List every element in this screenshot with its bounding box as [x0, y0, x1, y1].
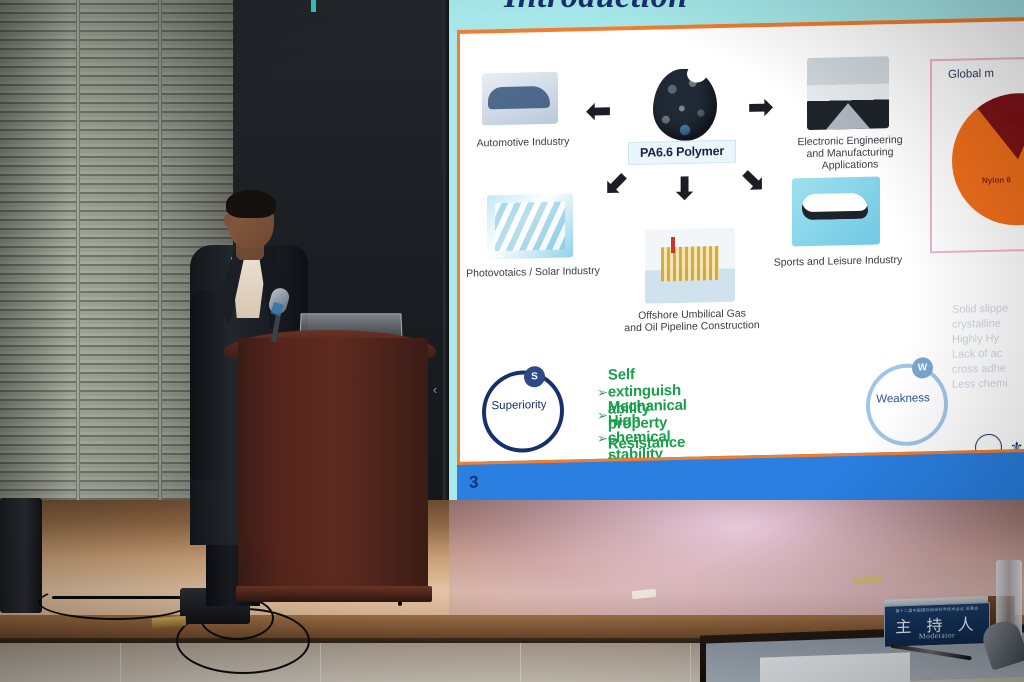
weakness-bullets-faded: Solid slippe crystalline Highly Hy Lack … — [952, 300, 1024, 392]
bullet-arrow-icon: ➢ — [597, 430, 608, 446]
bullet-arrow-icon: ➢ — [597, 407, 608, 423]
center-node-chip: PA6.6 Polymer — [628, 140, 736, 165]
teal-light-sliver — [311, 0, 316, 12]
slide-number: 3 — [469, 473, 478, 493]
arrow-left-icon: ⬅ — [586, 97, 611, 128]
speaker-ear — [224, 214, 232, 227]
floor-tile-line — [320, 643, 321, 682]
pie-chart — [952, 92, 1024, 227]
presentation-scene: ‹ Introduction PA6.6 Polymer ⬅ ➡ ⬇ ⬇ ⬇ — [0, 0, 1024, 682]
pie-chart-title: Global m — [948, 68, 994, 81]
floor-tile-line — [690, 643, 691, 682]
notepad[interactable] — [760, 652, 910, 682]
oil-rig-thumb — [645, 228, 735, 304]
superiority-label: Superiority — [482, 399, 556, 413]
node-label-automotive: Automotive Industry — [468, 135, 578, 149]
cable-loop — [38, 584, 192, 620]
pie-slice-label-other: Other — [1006, 115, 1024, 124]
bullet-arrow-icon: ➢ — [597, 384, 608, 400]
polymer-granules-image — [653, 68, 717, 141]
arrow-down-right-icon: ⬇ — [735, 163, 774, 202]
weakness-bullet: Lack of ac — [952, 345, 1024, 362]
moderator-nameplate: 第十二届中国国际纳米科学技术会议 组委会 主 持 人 Moderator — [884, 602, 990, 648]
pie-slice-label-nylon6: Nylon 6 — [982, 175, 1011, 185]
floor-tile-line — [120, 643, 121, 682]
node-label-solar: Photovotaics / Solar Industry — [466, 265, 600, 280]
podium-base — [236, 586, 432, 602]
sneakers-thumb — [792, 176, 880, 246]
node-label-electronic-line2: and Manufacturing Applications — [782, 146, 918, 173]
floor-tile-line — [520, 643, 521, 682]
weakness-bullet: Solid slippe — [952, 300, 1024, 317]
speaker-arm — [190, 290, 224, 480]
arrow-down-icon: ⬇ — [672, 175, 697, 206]
podium — [238, 338, 428, 598]
weakness-bullet: Less chemi — [952, 375, 1024, 392]
weakness-label: Weakness — [866, 392, 940, 406]
arrow-right-icon: ➡ — [748, 93, 773, 124]
speaker-hair — [226, 190, 276, 218]
slide-content-area: PA6.6 Polymer ⬅ ➡ ⬇ ⬇ ⬇ Automotive Indus… — [457, 17, 1024, 472]
electronics-thumb — [807, 56, 889, 130]
pie-chart-panel: Global m Other Nylon 6 — [930, 56, 1024, 253]
stage-monitor-speaker — [0, 498, 42, 613]
solar-panel-thumb — [487, 193, 573, 259]
weakness-bullet: Highly Hy — [952, 330, 1024, 347]
weakness-bullet: cross adhe — [952, 360, 1024, 377]
slide-title: Introduction — [504, 0, 804, 16]
projection-screen: Introduction PA6.6 Polymer ⬅ ➡ ⬇ ⬇ ⬇ Aut… — [449, 0, 1024, 510]
node-label-offshore-line2: and Oil Pipeline Construction — [620, 319, 764, 334]
center-node-label: PA6.6 Polymer — [629, 141, 735, 164]
arrow-down-left-icon: ⬇ — [595, 166, 634, 205]
chevron-left-icon[interactable]: ‹ — [429, 383, 441, 397]
cable-run — [52, 596, 192, 599]
weakness-bullet: crystalline — [952, 315, 1024, 332]
car-thumb — [482, 72, 558, 126]
node-label-sports: Sports and Leisure Industry — [770, 254, 906, 269]
